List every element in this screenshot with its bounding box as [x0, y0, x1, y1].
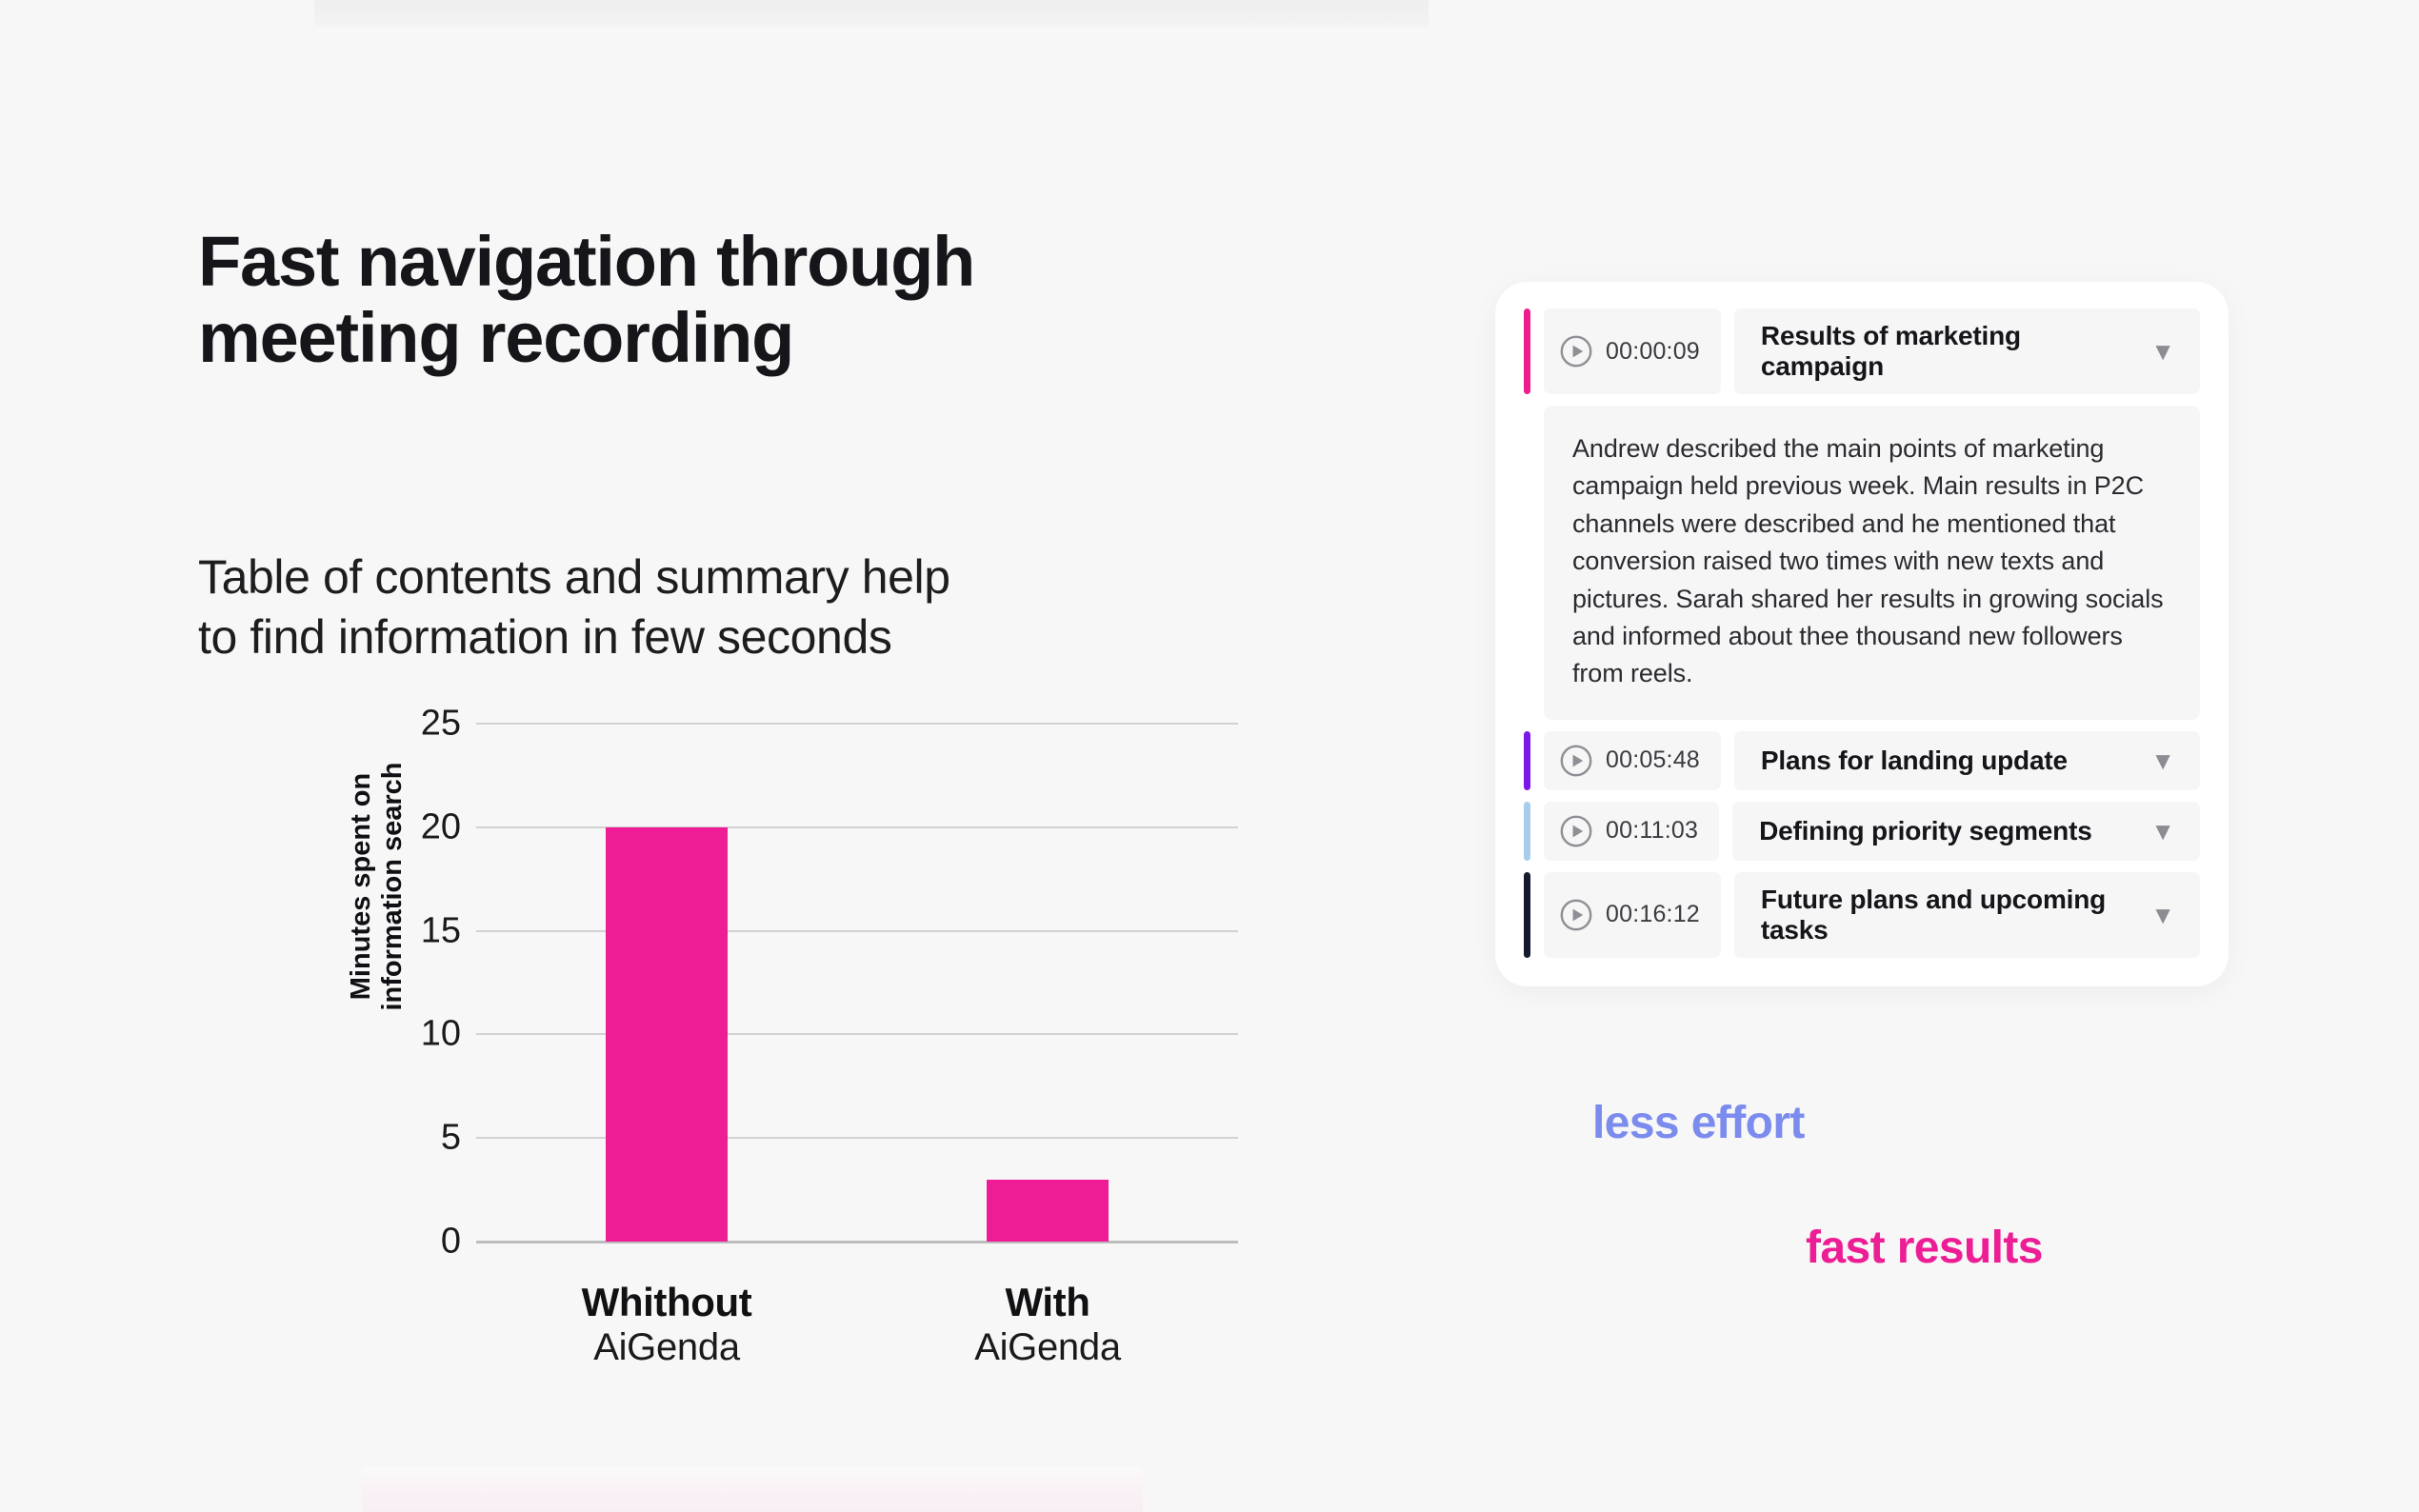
tagline-fast-results: fast results — [1806, 1222, 2043, 1274]
x-category-sub-0: AiGenda — [514, 1325, 819, 1370]
gridline-25 — [476, 723, 1238, 725]
chapter-title-chip[interactable]: Future plans and upcoming tasks▼ — [1734, 872, 2200, 958]
timestamp-chip[interactable]: 00:11:03 — [1544, 802, 1719, 861]
play-circle-icon[interactable] — [1559, 898, 1593, 932]
y-tick-label-5: 5 — [347, 1118, 461, 1159]
table-of-contents-card: 00:00:09Results of marketing campaign▼An… — [1495, 282, 2229, 986]
page-subtitle: Table of contents and summary help to fi… — [198, 547, 1274, 667]
subtitle-line-2: to find information in few seconds — [198, 607, 1274, 667]
chapter-title-label: Plans for landing update — [1761, 746, 2068, 776]
x-category-main-1: With — [895, 1280, 1200, 1325]
bar-1 — [987, 1180, 1109, 1242]
y-tick-label-10: 10 — [347, 1014, 461, 1055]
gridline-5 — [476, 1137, 1238, 1139]
page-title: Fast navigation through meeting recordin… — [198, 224, 1265, 376]
x-category-sub-1: AiGenda — [895, 1325, 1200, 1370]
plot-area: 0510152025WhithoutAiGendaWithAiGenda — [476, 724, 1238, 1242]
chapter-accent-bar — [1524, 802, 1530, 861]
chevron-down-icon[interactable]: ▼ — [2150, 819, 2175, 844]
chevron-down-icon[interactable]: ▼ — [2150, 339, 2175, 364]
timestamp-label: 00:16:12 — [1606, 901, 1700, 928]
chapter-title-chip[interactable]: Defining priority segments▼ — [1732, 802, 2200, 861]
toc-row[interactable]: 00:05:48Plans for landing update▼ — [1524, 731, 2200, 790]
y-tick-label-20: 20 — [347, 806, 461, 847]
chapter-summary-box: Andrew described the main points of mark… — [1544, 406, 2200, 720]
x-category-main-0: Whithout — [514, 1280, 819, 1325]
tagline-less-effort: less effort — [1592, 1097, 1805, 1149]
play-circle-icon[interactable] — [1559, 334, 1593, 368]
headline-line-2: meeting recording — [198, 300, 1265, 376]
subtitle-line-1: Table of contents and summary help — [198, 547, 1274, 607]
timestamp-chip[interactable]: 00:05:48 — [1544, 731, 1721, 790]
chevron-down-icon[interactable]: ▼ — [2150, 903, 2175, 927]
toc-row[interactable]: 00:16:12Future plans and upcoming tasks▼ — [1524, 872, 2200, 958]
play-circle-icon[interactable] — [1559, 814, 1593, 848]
chapter-accent-bar — [1524, 872, 1530, 958]
y-tick-label-25: 25 — [347, 704, 461, 745]
toc-row[interactable]: 00:00:09Results of marketing campaign▼ — [1524, 308, 2200, 394]
play-circle-icon[interactable] — [1559, 744, 1593, 778]
timestamp-chip[interactable]: 00:16:12 — [1544, 872, 1721, 958]
timestamp-label: 00:11:03 — [1606, 817, 1698, 845]
chapter-title-chip[interactable]: Results of marketing campaign▼ — [1734, 308, 2200, 394]
x-category-label-0: WhithoutAiGenda — [514, 1280, 819, 1370]
bar-0 — [606, 827, 728, 1242]
slide-canvas: Fast navigation through meeting recordin… — [0, 0, 2419, 1512]
chapter-title-label: Defining priority segments — [1759, 816, 2092, 846]
chapter-title-label: Future plans and upcoming tasks — [1761, 885, 2133, 945]
gridline-10 — [476, 1033, 1238, 1035]
timestamp-label: 00:00:09 — [1606, 338, 1700, 366]
chevron-down-icon[interactable]: ▼ — [2150, 748, 2175, 773]
toc-row[interactable]: 00:11:03Defining priority segments▼ — [1524, 802, 2200, 861]
chapter-title-chip[interactable]: Plans for landing update▼ — [1734, 731, 2200, 790]
chapter-summary-text: Andrew described the main points of mark… — [1572, 430, 2171, 693]
y-tick-label-0: 0 — [347, 1222, 461, 1263]
gridline-0 — [476, 1241, 1238, 1243]
timestamp-chip[interactable]: 00:00:09 — [1544, 308, 1721, 394]
timestamp-label: 00:05:48 — [1606, 746, 1700, 774]
y-tick-label-15: 15 — [347, 910, 461, 951]
headline-line-1: Fast navigation through — [198, 224, 1265, 300]
gridline-15 — [476, 930, 1238, 932]
chapter-accent-bar — [1524, 731, 1530, 790]
left-column: Fast navigation through meeting recordin… — [0, 0, 1333, 1512]
x-category-label-1: WithAiGenda — [895, 1280, 1200, 1370]
chapter-title-label: Results of marketing campaign — [1761, 321, 2133, 382]
gridline-20 — [476, 826, 1238, 828]
chapter-accent-bar — [1524, 308, 1530, 394]
bar-chart: Minutes spent on information search 0510… — [198, 724, 1303, 1390]
